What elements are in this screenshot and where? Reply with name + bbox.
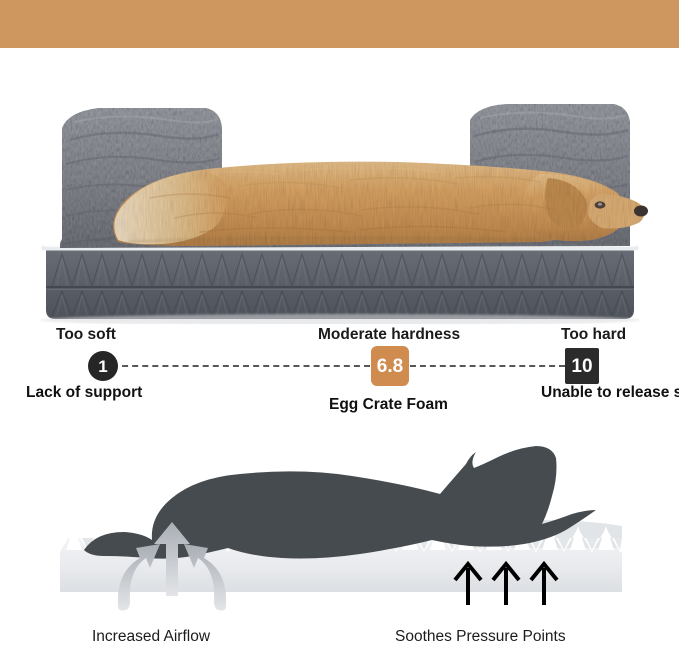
hardness-scale-bottom-labels: Lack of support Egg Crate Foam Unable to… [0,384,679,424]
foam-cross-section-diagram [0,420,679,624]
scale-top-label-soft: Too soft [56,326,116,344]
caption-soothes-pressure: Soothes Pressure Points [395,628,566,646]
scale-badge-1: 1 [88,351,118,381]
hardness-scale-top-labels: Too soft Moderate hardness Too hard [0,326,679,348]
scale-badge-10: 10 [565,348,599,384]
scale-top-label-hard: Too hard [561,326,626,344]
diagram-captions: Increased Airflow Soothes Pressure Point… [0,628,679,656]
scale-connector-right [410,365,565,367]
header-banner: Orthopedic Support [0,0,679,48]
hardness-scale-track: 1 6.8 10 [0,350,679,382]
cross-section-illustration [0,420,679,624]
scale-bottom-label-hard: Unable to release stress [541,384,663,401]
product-photo [0,48,679,324]
scale-top-label-moderate: Moderate hardness [318,326,460,344]
hardness-scale: Too soft Moderate hardness Too hard 1 6.… [0,326,679,420]
caption-increased-airflow: Increased Airflow [92,628,210,646]
dog-bed-illustration [0,48,679,324]
dog-nose [634,206,648,217]
scale-connector-left [112,365,370,367]
scale-bottom-label-soft: Lack of support [26,384,142,401]
scale-badge-6-8: 6.8 [371,346,409,386]
banner-background [0,0,679,48]
bed-base [46,248,634,319]
scale-bottom-label-moderate: Egg Crate Foam [329,396,448,413]
infographic-root: Orthopedic Support [0,0,679,660]
